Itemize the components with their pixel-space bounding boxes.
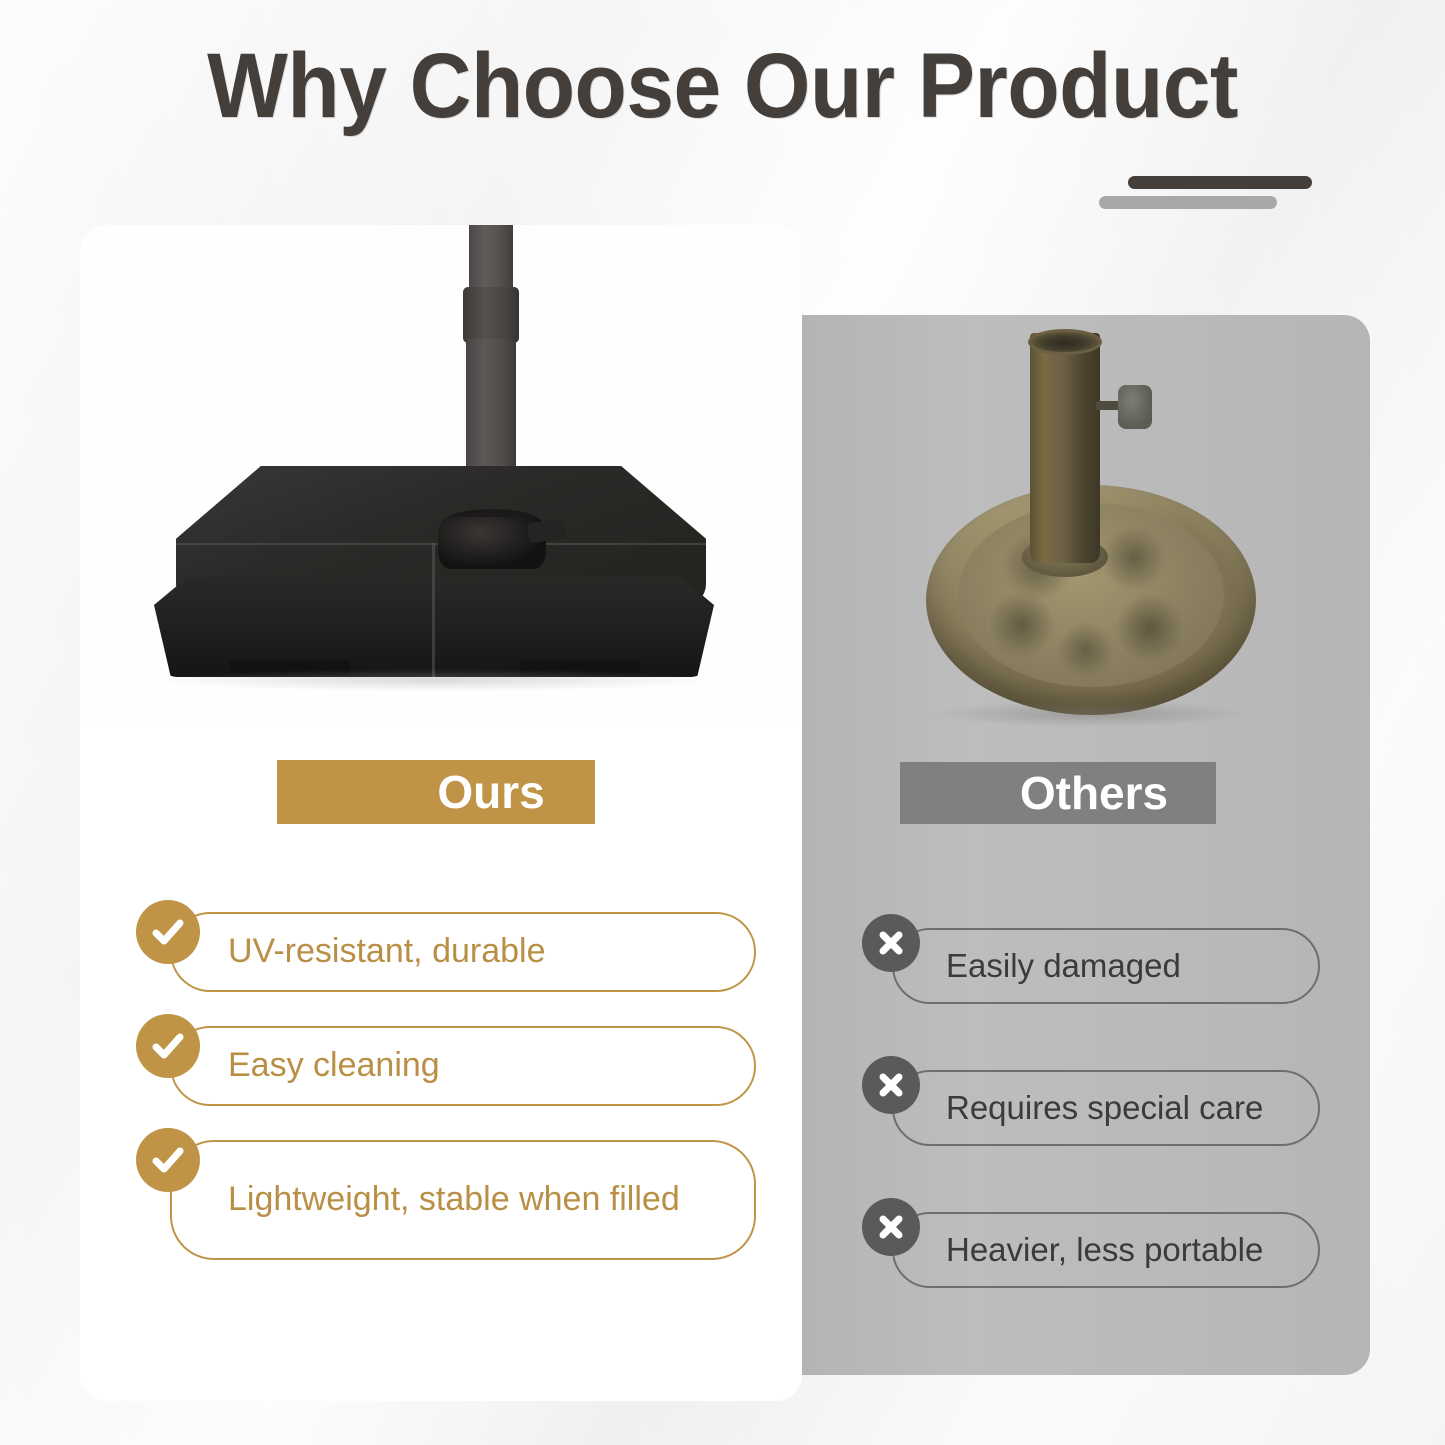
ours-feature-label: Easy cleaning (228, 1045, 440, 1086)
x-icon (862, 1198, 920, 1256)
others-feature-pill: Heavier, less portable (892, 1212, 1320, 1288)
iron-tighten-knob (1118, 385, 1152, 429)
iron-pole-rim (1028, 329, 1102, 355)
others-feature-item: Requires special care (892, 1070, 1320, 1146)
resin-base-seam-vertical (432, 543, 435, 677)
ours-badge: Ours (277, 760, 595, 824)
ours-feature-pill: UV-resistant, durable (170, 912, 756, 992)
others-feature-label: Requires special care (946, 1089, 1263, 1127)
ours-feature-pill: Lightweight, stable when filled (170, 1140, 756, 1260)
umbrella-pole-collar (463, 287, 519, 343)
ours-feature-item: Easy cleaning (170, 1026, 756, 1106)
others-feature-item: Heavier, less portable (892, 1212, 1320, 1288)
iron-pole-pipe (1030, 333, 1100, 563)
check-icon (136, 1014, 200, 1078)
comparison-infographic: Why Choose Our Product (0, 0, 1445, 1445)
x-icon (862, 1056, 920, 1114)
ours-feature-item: UV-resistant, durable (170, 912, 756, 992)
x-icon (862, 914, 920, 972)
others-feature-list: Easily damaged Requires special care Hea… (892, 928, 1320, 1354)
others-badge-label: Others (1020, 766, 1168, 820)
others-badge: Others (900, 762, 1216, 824)
ours-feature-label: Lightweight, stable when filled (228, 1179, 680, 1220)
decorative-rule-dark (1128, 176, 1312, 189)
others-feature-label: Heavier, less portable (946, 1231, 1263, 1269)
others-feature-item: Easily damaged (892, 928, 1320, 1004)
umbrella-pole-upper (469, 225, 513, 295)
ours-feature-item: Lightweight, stable when filled (170, 1140, 756, 1260)
check-icon (136, 900, 200, 964)
ours-feature-label: UV-resistant, durable (228, 931, 546, 972)
others-product-image (800, 315, 1370, 745)
ours-badge-label: Ours (437, 765, 544, 819)
ours-feature-list: UV-resistant, durable Easy cleaning Ligh… (170, 912, 756, 1294)
ours-feature-pill: Easy cleaning (170, 1026, 756, 1106)
ours-product-image (80, 225, 802, 725)
others-feature-label: Easily damaged (946, 947, 1181, 985)
page-title: Why Choose Our Product (51, 38, 1395, 135)
others-feature-pill: Requires special care (892, 1070, 1320, 1146)
check-icon (136, 1128, 200, 1192)
iron-base-shadow (930, 701, 1250, 727)
others-feature-pill: Easily damaged (892, 928, 1320, 1004)
resin-base-shadow (160, 669, 710, 691)
pole-hub-lever (527, 519, 567, 543)
decorative-rule-light (1099, 196, 1277, 209)
